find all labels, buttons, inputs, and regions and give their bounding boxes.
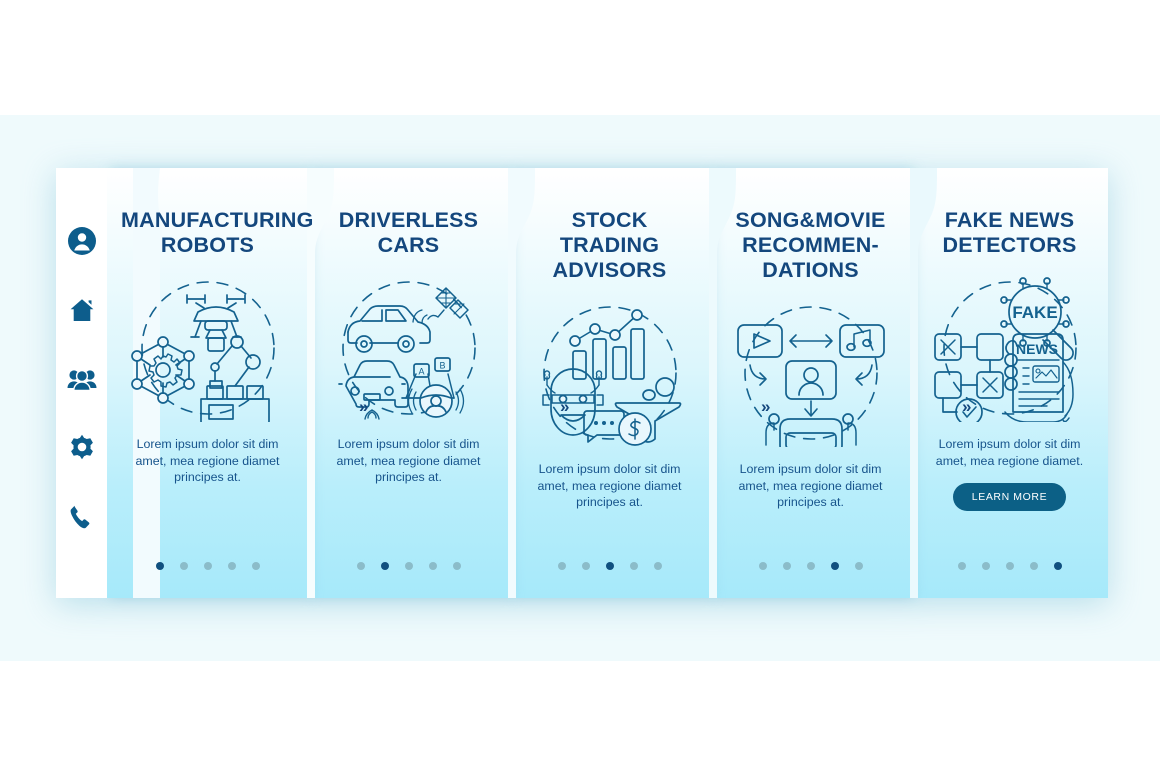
stock-trading-illustration <box>525 297 695 447</box>
card-title: FAKE NEWS DETECTORS <box>925 208 1094 258</box>
sidebar-item-contact[interactable] <box>65 500 99 534</box>
step-dot[interactable] <box>204 562 212 570</box>
step-dot[interactable] <box>381 562 389 570</box>
step-dot[interactable] <box>982 562 990 570</box>
home-icon <box>68 296 96 324</box>
step-dot[interactable] <box>831 562 839 570</box>
gear-icon <box>68 434 96 462</box>
step-dot[interactable] <box>252 562 260 570</box>
sidebar-item-settings[interactable] <box>65 431 99 465</box>
card-description: Lorem ipsum dolor sit dim amet, mea regi… <box>731 461 891 511</box>
chevron-right-icon[interactable]: » <box>359 398 368 415</box>
step-dots[interactable] <box>509 562 710 570</box>
card-description: Lorem ipsum dolor sit dim amet, mea regi… <box>128 436 288 486</box>
driverless-cars-illustration: A B <box>324 272 494 422</box>
step-dot[interactable] <box>1030 562 1038 570</box>
step-dot[interactable] <box>958 562 966 570</box>
card-description: Lorem ipsum dolor sit dim amet, mea regi… <box>530 461 690 511</box>
people-group-icon <box>67 366 97 392</box>
card-title: STOCK TRADING ADVISORS <box>523 208 696 283</box>
step-dot[interactable] <box>429 562 437 570</box>
step-dot[interactable] <box>759 562 767 570</box>
step-dot[interactable] <box>1006 562 1014 570</box>
step-dots[interactable] <box>308 562 509 570</box>
step-dot[interactable] <box>558 562 566 570</box>
user-circle-icon <box>67 226 97 256</box>
step-dot[interactable] <box>582 562 590 570</box>
onboarding-stage: MANUFACTURING ROBOTS <box>56 168 1108 598</box>
onboarding-card-fake-news-detectors[interactable]: FAKE NEWS DETECTORS FAKE <box>911 168 1108 598</box>
onboarding-card-song-movie-recommendations[interactable]: SONG&MOVIE RECOMMEN-DATIONS <box>710 168 911 598</box>
step-dot[interactable] <box>630 562 638 570</box>
step-dot[interactable] <box>228 562 236 570</box>
step-dot[interactable] <box>357 562 365 570</box>
step-dot[interactable] <box>783 562 791 570</box>
step-dots[interactable] <box>710 562 911 570</box>
onboarding-card-manufacturing-robots[interactable]: MANUFACTURING ROBOTS <box>107 168 308 598</box>
step-dots[interactable] <box>107 562 308 570</box>
chevron-right-icon[interactable]: » <box>761 398 770 415</box>
sidebar <box>56 168 107 598</box>
step-dot[interactable] <box>855 562 863 570</box>
step-dot[interactable] <box>156 562 164 570</box>
manufacturing-robots-illustration <box>123 272 293 422</box>
svg-text:B: B <box>439 361 445 371</box>
svg-text:NEWS: NEWS <box>1016 341 1058 357</box>
onboarding-card-driverless-cars[interactable]: DRIVERLESS CARS <box>308 168 509 598</box>
step-dot[interactable] <box>1054 562 1062 570</box>
svg-text:A: A <box>418 367 424 377</box>
step-dot[interactable] <box>453 562 461 570</box>
learn-more-button[interactable]: LEARN MORE <box>953 483 1066 511</box>
recommendations-illustration <box>726 297 896 447</box>
onboarding-card-stock-trading-advisors[interactable]: STOCK TRADING ADVISORS <box>509 168 710 598</box>
sidebar-item-home[interactable] <box>65 293 99 327</box>
card-title: MANUFACTURING ROBOTS <box>121 208 294 258</box>
chevron-right-icon[interactable]: » <box>560 398 569 415</box>
sidebar-item-account[interactable] <box>65 224 99 258</box>
phone-icon <box>69 504 95 530</box>
step-dot[interactable] <box>654 562 662 570</box>
svg-text:FAKE: FAKE <box>1012 303 1057 322</box>
card-description: Lorem ipsum dolor sit dim amet, mea regi… <box>930 436 1090 469</box>
step-dot[interactable] <box>606 562 614 570</box>
card-title: SONG&MOVIE RECOMMEN-DATIONS <box>724 208 897 283</box>
chevron-right-icon[interactable]: » <box>962 398 971 415</box>
fake-news-detector-illustration: FAKE <box>925 272 1095 422</box>
step-dot[interactable] <box>180 562 188 570</box>
card-description: Lorem ipsum dolor sit dim amet, mea regi… <box>329 436 489 486</box>
step-dots[interactable] <box>911 562 1108 570</box>
sidebar-item-team[interactable] <box>65 362 99 396</box>
step-dot[interactable] <box>405 562 413 570</box>
step-dot[interactable] <box>807 562 815 570</box>
card-title: DRIVERLESS CARS <box>322 208 495 258</box>
